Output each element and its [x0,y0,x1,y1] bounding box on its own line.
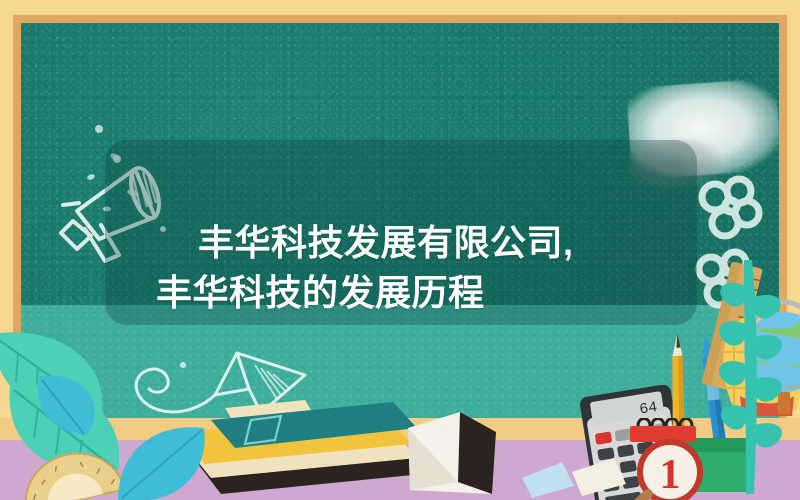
leaf-blue-icon [112,420,222,500]
plant-icon [700,250,800,500]
notebook-icon [400,404,520,500]
magnifier-number-text: 1 [660,452,681,498]
paper-scraps-icon [518,450,638,500]
banner-image: 丰华科技发展有限公司,丰华科技的发展历程 [0,0,800,500]
page-title: 丰华科技发展有限公司,丰华科技的发展历程 [156,168,606,368]
page-title-text: 丰华科技发展有限公司,丰华科技的发展历程 [156,222,574,313]
